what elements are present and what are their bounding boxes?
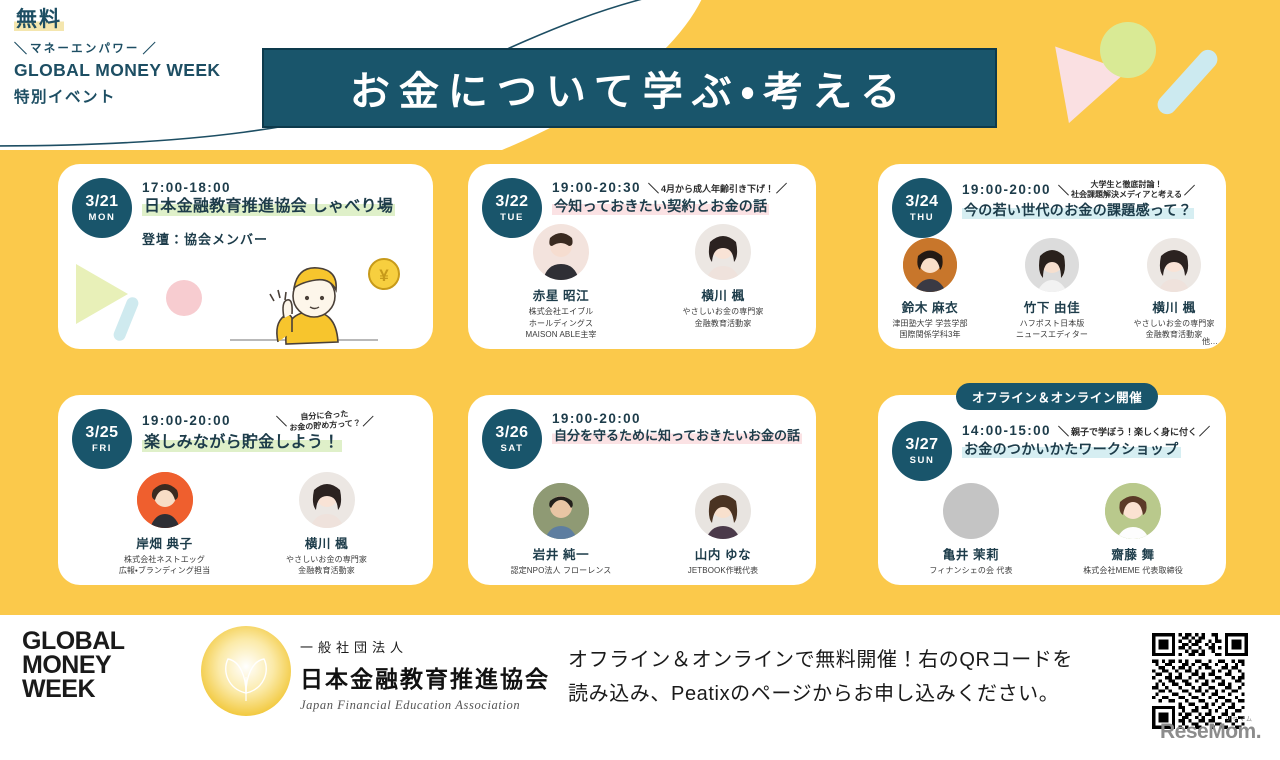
avatar	[903, 238, 957, 292]
speaker-role: 株式会社ネストエッグ 広報・ブランディング担当	[113, 554, 217, 577]
speaker: 横川 楓 やさしいお金の専門家 金融教育活動家	[1122, 238, 1226, 341]
slash-right: ／	[1199, 423, 1210, 439]
card-header: 14:00-15:00 ＼ 親子で学ぼう！楽しく身に付く ／ お金のつかいかたワ…	[962, 423, 1216, 460]
event-time: 19:00-20:00	[142, 413, 231, 428]
special-event-label: 特別イベント	[14, 85, 220, 107]
avatar	[299, 472, 355, 528]
speaker: 横川 楓 やさしいお金の専門家 金融教育活動家	[671, 224, 775, 341]
organization-mark-icon	[198, 623, 294, 719]
event-time: 19:00-20:00	[962, 182, 1051, 197]
avatar	[695, 224, 751, 280]
date-value: 3/25	[85, 425, 118, 441]
slash-left: ＼	[1058, 182, 1069, 198]
speaker: 岸畑 典子 株式会社ネストエッグ 広報・ブランディング担当	[113, 472, 217, 577]
speaker: 岩井 純一 認定NPO法人 フローレンス	[509, 483, 613, 577]
weekday-value: SUN	[910, 456, 935, 466]
avatar	[533, 224, 589, 280]
speaker-role: 株式会社エイブル ホールディングス MAISON ABLE主宰	[509, 306, 613, 341]
etc-label: 他…	[1202, 336, 1218, 347]
speaker-role: 株式会社MEME 代表取締役	[1081, 565, 1185, 577]
illustration-area: ¥	[58, 256, 433, 349]
svg-text:¥: ¥	[379, 266, 389, 285]
event-time: 14:00-15:00	[962, 423, 1051, 438]
speaker-role: JETBOOK作戦代表	[671, 565, 775, 577]
avatar	[533, 483, 589, 539]
gmw-logo-line2: MONEY	[22, 653, 172, 677]
card-header: 19:00-20:00 自分を守るために知っておきたいお金の話	[552, 411, 806, 446]
slash-left: ＼	[276, 413, 287, 429]
weekday-value: SAT	[500, 444, 523, 454]
resemom-logo-ruby: リセマム	[1225, 714, 1253, 723]
organization-type: 一般社団法人	[300, 637, 550, 656]
poster-footer: GLOBAL MONEY WEEK 一般社団法人 日本金融教育推進協会 Japa…	[0, 615, 1280, 760]
organization-name-en: Japan Financial Education Association	[300, 698, 550, 713]
time-row: 14:00-15:00 ＼ 親子で学ぼう！楽しく身に付く ／	[962, 423, 1216, 439]
speaker-name: 亀井 茉莉	[919, 544, 1023, 563]
speaker: 横川 楓 やさしいお金の専門家 金融教育活動家	[275, 472, 379, 577]
speaker-name: 鈴木 麻衣	[878, 297, 982, 316]
weekday-value: THU	[910, 213, 934, 223]
speaker: 亀井 茉莉 フィナンシェの会 代表	[919, 483, 1023, 577]
slash-right: ／	[1184, 182, 1195, 198]
event-card[interactable]: オフライン＆オンライン開催 3/27 SUN 14:00-15:00 ＼ 親子で…	[878, 395, 1226, 585]
avatar	[1147, 238, 1201, 292]
event-catchcopy: ＼ 4月から成人年齢引き下げ！ ／	[648, 180, 787, 196]
speaker-role: やさしいお金の専門家 金融教育活動家	[275, 554, 379, 577]
speaker-name: 横川 楓	[671, 285, 775, 304]
event-title-wrap: 日本金融教育推進協会 しゃべり場	[142, 195, 423, 219]
event-title-wrap: 自分を守るために知っておきたいお金の話	[552, 426, 806, 446]
event-title: 楽しみながら貯金しよう！	[142, 433, 342, 452]
catchcopy-text: 大学生と徹底討論！ 社会課題解決メディアと考える	[1071, 180, 1182, 200]
event-title-wrap: お金のつかいかたワークショップ	[962, 439, 1216, 460]
speaker-role: 認定NPO法人 フローレンス	[509, 565, 613, 577]
speaker-name: 岩井 純一	[509, 544, 613, 563]
speaker-role: フィナンシェの会 代表	[919, 565, 1023, 577]
event-card[interactable]: 3/21 MON 17:00-18:00 日本金融教育推進協会 しゃべり場 登壇…	[58, 164, 433, 349]
event-card[interactable]: 3/25 FRI 19:00-20:00 ＼ 自分に合った お金の貯め方って？ …	[58, 395, 433, 585]
event-card[interactable]: 3/24 THU 19:00-20:00 ＼ 大学生と徹底討論！ 社会課題解決メ…	[878, 164, 1226, 349]
tagline-row: ＼ マネーエンパワー ／	[14, 38, 220, 57]
event-card[interactable]: 3/26 SAT 19:00-20:00 自分を守るために知っておきたいお金の話…	[468, 395, 816, 585]
time-row: 19:00-20:00 ＼ 自分に合った お金の貯め方って？ ／	[142, 411, 423, 431]
avatar	[137, 472, 193, 528]
speaker: 竹下 由佳 ハフポスト日本版 ニュースエディター	[1000, 238, 1104, 341]
program-name: GLOBAL MONEY WEEK	[14, 60, 220, 81]
date-value: 3/24	[905, 194, 938, 210]
event-title: 自分を守るために知っておきたいお金の話	[552, 427, 802, 444]
speaker-list: 岸畑 典子 株式会社ネストエッグ 広報・ブランディング担当 横川 楓 やさしいお…	[58, 472, 433, 577]
event-time: 19:00-20:30	[552, 180, 641, 195]
date-badge: 3/25 FRI	[72, 409, 132, 469]
catchcopy-text: 親子で学ぼう！楽しく身に付く	[1071, 425, 1197, 438]
footer-note-line2: 読み込み、Peatixのページからお申し込みください。	[568, 677, 1128, 711]
speaker: 山内 ゆな JETBOOK作戦代表	[671, 483, 775, 577]
footer-note: オフライン＆オンラインで無料開催！右のQRコードを 読み込み、Peatixのペー…	[568, 643, 1128, 711]
event-time: 19:00-20:00	[552, 411, 641, 426]
gmw-logo-line3: WEEK	[22, 677, 172, 701]
tagline: マネーエンパワー	[27, 40, 143, 56]
date-value: 3/27	[905, 437, 938, 453]
event-title: 今知っておきたい契約とお金の話	[552, 197, 769, 215]
speaker-name: 岸畑 典子	[113, 533, 217, 552]
speaker-role: やさしいお金の専門家 金融教育活動家	[671, 306, 775, 329]
time-row: 19:00-20:00 ＼ 大学生と徹底討論！ 社会課題解決メディアと考える ／	[962, 180, 1216, 200]
catchcopy-text: 自分に合った お金の貯め方って？	[288, 409, 361, 434]
event-card-grid: 3/21 MON 17:00-18:00 日本金融教育推進協会 しゃべり場 登壇…	[0, 150, 1280, 605]
speaker-name: 齋藤 舞	[1081, 544, 1185, 563]
speaker-list: 亀井 茉莉 フィナンシェの会 代表 齋藤 舞 株式会社MEME 代表取締役	[878, 483, 1226, 577]
card-header: 17:00-18:00 日本金融教育推進協会 しゃべり場 登壇：協会メンバー	[142, 180, 423, 248]
event-time: 17:00-18:00	[142, 180, 231, 195]
speaker-name: 山内 ゆな	[671, 544, 775, 563]
event-poster: 無料 ＼ マネーエンパワー ／ GLOBAL MONEY WEEK 特別イベント…	[0, 0, 1280, 760]
speaker-name: 竹下 由佳	[1000, 297, 1104, 316]
time-row: 17:00-18:00	[142, 180, 423, 195]
time-row: 19:00-20:30 ＼ 4月から成人年齢引き下げ！ ／	[552, 180, 806, 196]
card-header: 19:00-20:30 ＼ 4月から成人年齢引き下げ！ ／ 今知っておきたい契約…	[552, 180, 806, 217]
page-title: お金について学ぶ・考える	[350, 59, 909, 117]
speaker-role: ハフポスト日本版 ニュースエディター	[1000, 318, 1104, 341]
dot-shape-icon	[166, 280, 202, 316]
card-header: 19:00-20:00 ＼ 自分に合った お金の貯め方って？ ／ 楽しみながら貯…	[142, 411, 423, 455]
gmw-logo-line1: GLOBAL	[22, 629, 172, 653]
event-catchcopy: ＼ 親子で学ぼう！楽しく身に付く ／	[1058, 423, 1210, 439]
circle-decoration-icon	[1100, 22, 1156, 78]
slash-left: ＼	[1058, 423, 1069, 439]
date-value: 3/22	[495, 194, 528, 210]
footer-divider	[0, 605, 1280, 615]
slash-right: ／	[776, 180, 787, 196]
free-badge: 無料	[14, 8, 64, 31]
footer-note-line1: オフライン＆オンラインで無料開催！右のQRコードを	[568, 643, 1128, 677]
weekday-value: FRI	[92, 444, 112, 454]
speaker-role: 津田塾大学 学芸学部 国際関係学科3年	[878, 318, 982, 341]
slash-right: ／	[363, 413, 374, 429]
person-illustration-icon: ¥	[226, 256, 416, 349]
avatar	[943, 483, 999, 539]
speaker-name: 横川 楓	[1122, 297, 1226, 316]
weekday-value: TUE	[500, 213, 524, 223]
speaker: 鈴木 麻衣 津田塾大学 学芸学部 国際関係学科3年	[878, 238, 982, 341]
bar-decoration-icon	[1154, 46, 1222, 118]
slash-left: ＼	[648, 180, 659, 196]
speaker: 齋藤 舞 株式会社MEME 代表取締役	[1081, 483, 1185, 577]
resemom-logo-text: ReseMom.	[1160, 720, 1261, 743]
avatar	[695, 483, 751, 539]
header-text-block: 無料 ＼ マネーエンパワー ／ GLOBAL MONEY WEEK 特別イベント	[14, 8, 220, 107]
date-badge: 3/27 SUN	[892, 421, 952, 481]
catchcopy-text: 4月から成人年齢引き下げ！	[661, 182, 774, 195]
slash-right: ／	[143, 38, 156, 57]
online-offline-badge: オフライン＆オンライン開催	[956, 383, 1158, 410]
event-catchcopy: ＼ 自分に合った お金の貯め方って？ ／	[276, 411, 374, 431]
date-badge: 3/21 MON	[72, 178, 132, 238]
organization-name: 日本金融教育推進協会	[300, 660, 550, 694]
speaker-list: 赤星 昭江 株式会社エイブル ホールディングス MAISON ABLE主宰 横川…	[468, 224, 816, 341]
event-catchcopy: ＼ 大学生と徹底討論！ 社会課題解決メディアと考える ／	[1058, 180, 1195, 200]
date-badge: 3/22 TUE	[482, 178, 542, 238]
time-row: 19:00-20:00	[552, 411, 806, 426]
avatar	[1025, 238, 1079, 292]
speaker-name: 横川 楓	[275, 533, 379, 552]
main-title-banner: お金について学ぶ・考える	[262, 48, 997, 128]
event-subline: 登壇：協会メンバー	[142, 229, 423, 248]
event-title: お金のつかいかたワークショップ	[962, 440, 1181, 458]
organization-text: 一般社団法人 日本金融教育推進協会 Japan Financial Educat…	[300, 637, 550, 713]
date-value: 3/26	[495, 425, 528, 441]
date-badge: 3/26 SAT	[482, 409, 542, 469]
speaker: 赤星 昭江 株式会社エイブル ホールディングス MAISON ABLE主宰	[509, 224, 613, 341]
event-title: 日本金融教育推進協会 しゃべり場	[142, 197, 395, 216]
event-title-wrap: 今の若い世代のお金の課題感って？	[962, 200, 1216, 221]
speaker-name: 赤星 昭江	[509, 285, 613, 304]
speaker-list: 鈴木 麻衣 津田塾大学 学芸学部 国際関係学科3年 竹下 由佳 ハフポスト日本版…	[878, 238, 1226, 341]
event-title-wrap: 楽しみながら貯金しよう！	[142, 431, 423, 455]
event-title-wrap: 今知っておきたい契約とお金の話	[552, 196, 806, 217]
avatar	[1105, 483, 1161, 539]
card-header: 19:00-20:00 ＼ 大学生と徹底討論！ 社会課題解決メディアと考える ／…	[962, 180, 1216, 221]
date-value: 3/21	[85, 194, 118, 210]
speaker-list: 岩井 純一 認定NPO法人 フローレンス 山内 ゆな JETBOOK作戦代表	[468, 483, 816, 577]
gmw-logo: GLOBAL MONEY WEEK	[22, 629, 172, 701]
date-badge: 3/24 THU	[892, 178, 952, 238]
event-title: 今の若い世代のお金の課題感って？	[962, 201, 1194, 219]
event-card[interactable]: 3/22 TUE 19:00-20:30 ＼ 4月から成人年齢引き下げ！ ／ 今…	[468, 164, 816, 349]
slash-left: ＼	[14, 38, 27, 57]
resemom-logo: ReseMom. リセマム	[1160, 720, 1261, 744]
weekday-value: MON	[89, 213, 116, 223]
